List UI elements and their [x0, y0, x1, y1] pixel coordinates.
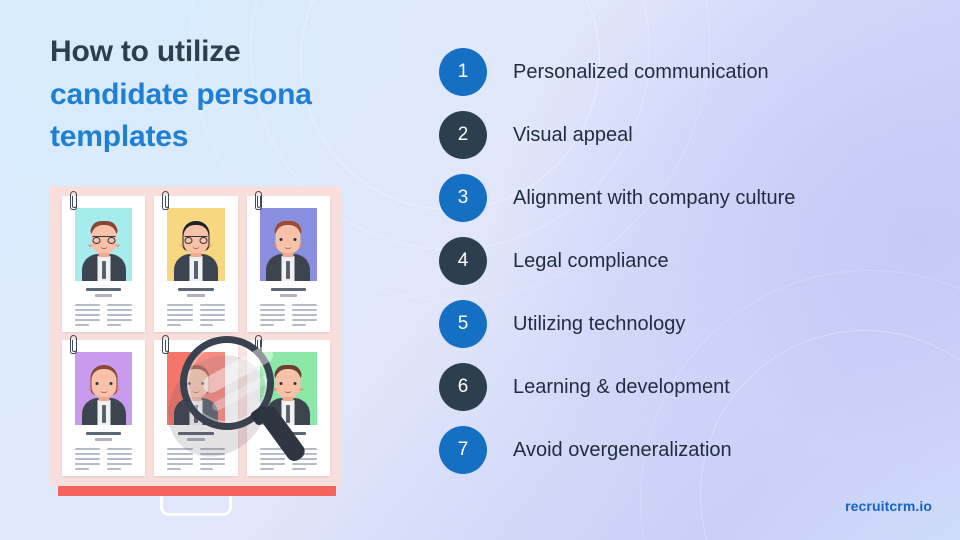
resume-text-column	[107, 448, 132, 470]
candidate-photo	[75, 352, 132, 425]
avatar	[266, 219, 310, 281]
cheek	[180, 244, 185, 247]
list-item-label: Utilizing technology	[513, 312, 685, 336]
resume-card-2	[154, 196, 237, 332]
candidate-subtitle-bar	[187, 438, 204, 441]
candidate-photo	[260, 352, 317, 425]
avatar	[82, 363, 126, 425]
candidate-subtitle-bar	[280, 294, 297, 297]
avatar	[174, 219, 218, 281]
resume-text-column	[167, 448, 192, 470]
list-item[interactable]: 7Avoid overgeneralization	[439, 418, 939, 481]
resume-text-column	[75, 448, 100, 470]
list-item[interactable]: 4Legal compliance	[439, 229, 939, 292]
board-base-bar	[58, 486, 336, 496]
candidate-subtitle-bar	[95, 294, 112, 297]
cheek	[272, 244, 277, 247]
eyes	[280, 382, 297, 385]
list-item-label: Legal compliance	[513, 249, 669, 273]
list-item-number-badge: 1	[439, 48, 487, 96]
resume-text-column	[167, 304, 192, 326]
paperclip-icon	[70, 335, 77, 354]
resume-text-lines	[75, 448, 132, 470]
glasses-icon	[92, 236, 115, 244]
brand-watermark: recruitcrm.io	[845, 498, 932, 514]
candidate-name-bar	[178, 432, 213, 435]
resume-card-6	[247, 340, 330, 476]
page-title: How to utilize candidate persona templat…	[50, 31, 410, 159]
list-item[interactable]: 3Alignment with company culture	[439, 166, 939, 229]
paperclip-icon	[70, 191, 77, 210]
list-item-number-badge: 3	[439, 174, 487, 222]
eyes	[187, 382, 204, 385]
list-item-label: Avoid overgeneralization	[513, 438, 732, 462]
list-item[interactable]: 1Personalized communication	[439, 40, 939, 103]
candidate-name-bar	[271, 432, 306, 435]
title-line-1: How to utilize	[50, 31, 410, 74]
list-item-number-badge: 4	[439, 237, 487, 285]
resume-text-column	[107, 304, 132, 326]
paperclip-icon	[255, 191, 262, 210]
list-item-label: Personalized communication	[513, 60, 769, 84]
tie	[102, 405, 106, 423]
illustration-candidate-resume-board	[50, 186, 342, 521]
resume-text-lines	[75, 304, 132, 326]
resume-text-column	[200, 448, 225, 470]
candidate-name-bar	[86, 432, 121, 435]
candidate-photo	[167, 208, 224, 281]
cheek	[207, 388, 212, 391]
cheek	[207, 244, 212, 247]
list-item-number-badge: 7	[439, 426, 487, 474]
paperclip-icon	[255, 335, 262, 354]
list-item-number-badge: 2	[439, 111, 487, 159]
resume-text-column	[292, 304, 317, 326]
avatar	[82, 219, 126, 281]
resume-text-column	[75, 304, 100, 326]
list-item[interactable]: 5Utilizing technology	[439, 292, 939, 355]
resume-card-grid	[62, 196, 330, 476]
avatar	[266, 363, 310, 425]
resume-text-column	[292, 448, 317, 470]
candidate-photo	[167, 352, 224, 425]
cheek	[88, 244, 93, 247]
cheek	[115, 388, 120, 391]
cheek	[299, 388, 304, 391]
list-item-number-badge: 6	[439, 363, 487, 411]
tie	[194, 261, 198, 279]
resume-text-column	[260, 448, 285, 470]
resume-card-5	[154, 340, 237, 476]
cheek	[299, 244, 304, 247]
numbered-tips-list: 1Personalized communication2Visual appea…	[439, 40, 939, 481]
paperclip-icon	[162, 335, 169, 354]
paperclip-icon	[162, 191, 169, 210]
tie	[286, 261, 290, 279]
list-item-label: Learning & development	[513, 375, 730, 399]
eyes	[280, 238, 297, 241]
eyes	[95, 382, 112, 385]
cheek	[272, 388, 277, 391]
candidate-photo	[260, 208, 317, 281]
resume-card-1	[62, 196, 145, 332]
candidate-subtitle-bar	[187, 294, 204, 297]
title-line-2: candidate persona	[50, 74, 410, 117]
cheek	[180, 388, 185, 391]
resume-text-lines	[260, 304, 317, 326]
candidate-name-bar	[271, 288, 306, 291]
list-item-label: Visual appeal	[513, 123, 633, 147]
resume-card-4	[62, 340, 145, 476]
resume-text-lines	[167, 448, 224, 470]
tie	[194, 405, 198, 423]
glasses-icon	[184, 236, 207, 244]
candidate-subtitle-bar	[95, 438, 112, 441]
cheek	[115, 244, 120, 247]
candidate-name-bar	[178, 288, 213, 291]
tie	[286, 405, 290, 423]
avatar	[174, 363, 218, 425]
list-item-number-badge: 5	[439, 300, 487, 348]
resume-text-lines	[260, 448, 317, 470]
list-item-label: Alignment with company culture	[513, 186, 795, 210]
cheek	[88, 388, 93, 391]
resume-card-3	[247, 196, 330, 332]
candidate-subtitle-bar	[280, 438, 297, 441]
candidate-name-bar	[86, 288, 121, 291]
list-item[interactable]: 2Visual appeal	[439, 103, 939, 166]
title-line-3: templates	[50, 116, 410, 159]
resume-text-column	[200, 304, 225, 326]
candidate-photo	[75, 208, 132, 281]
resume-text-column	[260, 304, 285, 326]
resume-text-lines	[167, 304, 224, 326]
tie	[102, 261, 106, 279]
list-item[interactable]: 6Learning & development	[439, 355, 939, 418]
board-stand	[160, 496, 232, 516]
